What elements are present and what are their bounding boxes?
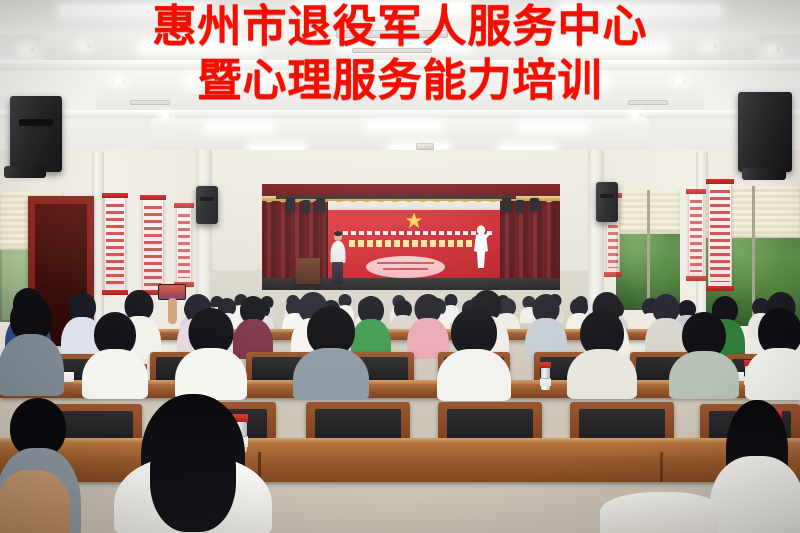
scroll-cap xyxy=(604,272,622,277)
backdrop-soldier-silhouette-icon xyxy=(470,224,492,270)
audience-member xyxy=(570,310,634,394)
scroll-text xyxy=(710,190,730,282)
water-bottle[interactable] xyxy=(540,362,551,390)
calligraphy-scroll xyxy=(176,206,192,284)
desk-seam xyxy=(660,452,663,482)
torso xyxy=(710,456,800,533)
ceiling-projector xyxy=(416,143,434,150)
backdrop-subheading-text xyxy=(349,240,480,247)
speaker-port xyxy=(19,119,52,127)
bottle-label xyxy=(540,378,551,386)
torso xyxy=(437,349,511,401)
stage-light xyxy=(516,200,524,212)
calligraphy-scroll xyxy=(688,192,704,278)
foreground-shoulder xyxy=(600,492,718,533)
stage-backdrop-banner xyxy=(328,210,500,284)
stage-light xyxy=(502,198,511,212)
scroll-cap xyxy=(102,193,128,198)
stage-light xyxy=(302,200,310,212)
speaker-port xyxy=(600,194,614,198)
audience-member-foreground xyxy=(714,400,800,533)
wall-speaker-right-bracket xyxy=(742,168,786,180)
presenter-torso xyxy=(331,241,346,263)
torso xyxy=(669,351,739,399)
scroll-text xyxy=(178,214,190,278)
calligraphy-scroll xyxy=(104,196,126,292)
stage-light xyxy=(286,198,295,211)
foreground-arm xyxy=(0,470,70,533)
torso xyxy=(567,349,637,399)
raised-arm xyxy=(168,298,177,324)
stage-truss xyxy=(276,196,516,199)
backdrop-presenter-line xyxy=(377,262,434,264)
torso xyxy=(82,349,148,399)
wall-speaker-left-bracket xyxy=(4,166,46,178)
presenter-trousers xyxy=(332,262,343,284)
wall-speaker-right-rear xyxy=(596,182,618,222)
audience-member xyxy=(0,296,62,392)
backdrop-star-icon xyxy=(405,212,423,229)
wall-speaker-left-rear xyxy=(196,186,218,224)
scroll-cap xyxy=(174,203,194,208)
audience-member-foreground xyxy=(118,394,268,533)
ceiling-soffit-inner xyxy=(0,110,800,118)
scroll-text xyxy=(106,204,124,286)
stage-podium[interactable] xyxy=(296,258,320,284)
calligraphy-scroll xyxy=(708,182,732,288)
torso xyxy=(293,348,369,400)
backdrop-presenter-line xyxy=(383,268,427,270)
overlay-title-block: 惠州市退役军人服务中心 暨心理服务能力培训 xyxy=(0,0,800,108)
ceiling-downlight xyxy=(160,112,172,118)
audience-member xyxy=(526,294,566,358)
scroll-text xyxy=(690,200,702,272)
scroll-cap xyxy=(686,276,706,281)
phone-screen xyxy=(159,285,185,299)
scroll-cap xyxy=(140,195,166,200)
audience-member xyxy=(84,312,146,392)
torso xyxy=(175,348,247,400)
audience-member xyxy=(440,308,508,394)
backdrop-presenter-plate xyxy=(366,256,445,278)
scroll-cap xyxy=(706,286,734,291)
event-photo-screenshot: 惠州市退役军人服务中心 暨心理服务能力培训 xyxy=(0,0,800,533)
calligraphy-scroll xyxy=(142,198,164,292)
presenter-hair xyxy=(334,231,342,236)
audience-member xyxy=(748,308,800,394)
audience-member xyxy=(178,308,244,394)
speaker-port xyxy=(200,197,214,201)
torso xyxy=(745,348,800,400)
ceiling-panel-light xyxy=(520,124,586,130)
scroll-cap xyxy=(686,189,706,194)
long-hair-front xyxy=(150,414,236,532)
ceiling-downlight xyxy=(630,112,642,118)
ceiling-panel-light xyxy=(206,124,272,130)
overlay-title-line-1: 惠州市退役军人服务中心 xyxy=(0,0,800,54)
stage-light xyxy=(316,198,325,212)
audience-member xyxy=(672,312,736,394)
scroll-cap xyxy=(706,179,734,184)
overlay-title-line-2: 暨心理服务能力培训 xyxy=(0,54,800,108)
audience-member xyxy=(296,306,366,394)
torso xyxy=(0,334,64,396)
scroll-text xyxy=(144,206,162,286)
stage-light xyxy=(530,198,539,211)
window-mullion xyxy=(647,190,650,310)
stage-presenter xyxy=(330,232,346,284)
